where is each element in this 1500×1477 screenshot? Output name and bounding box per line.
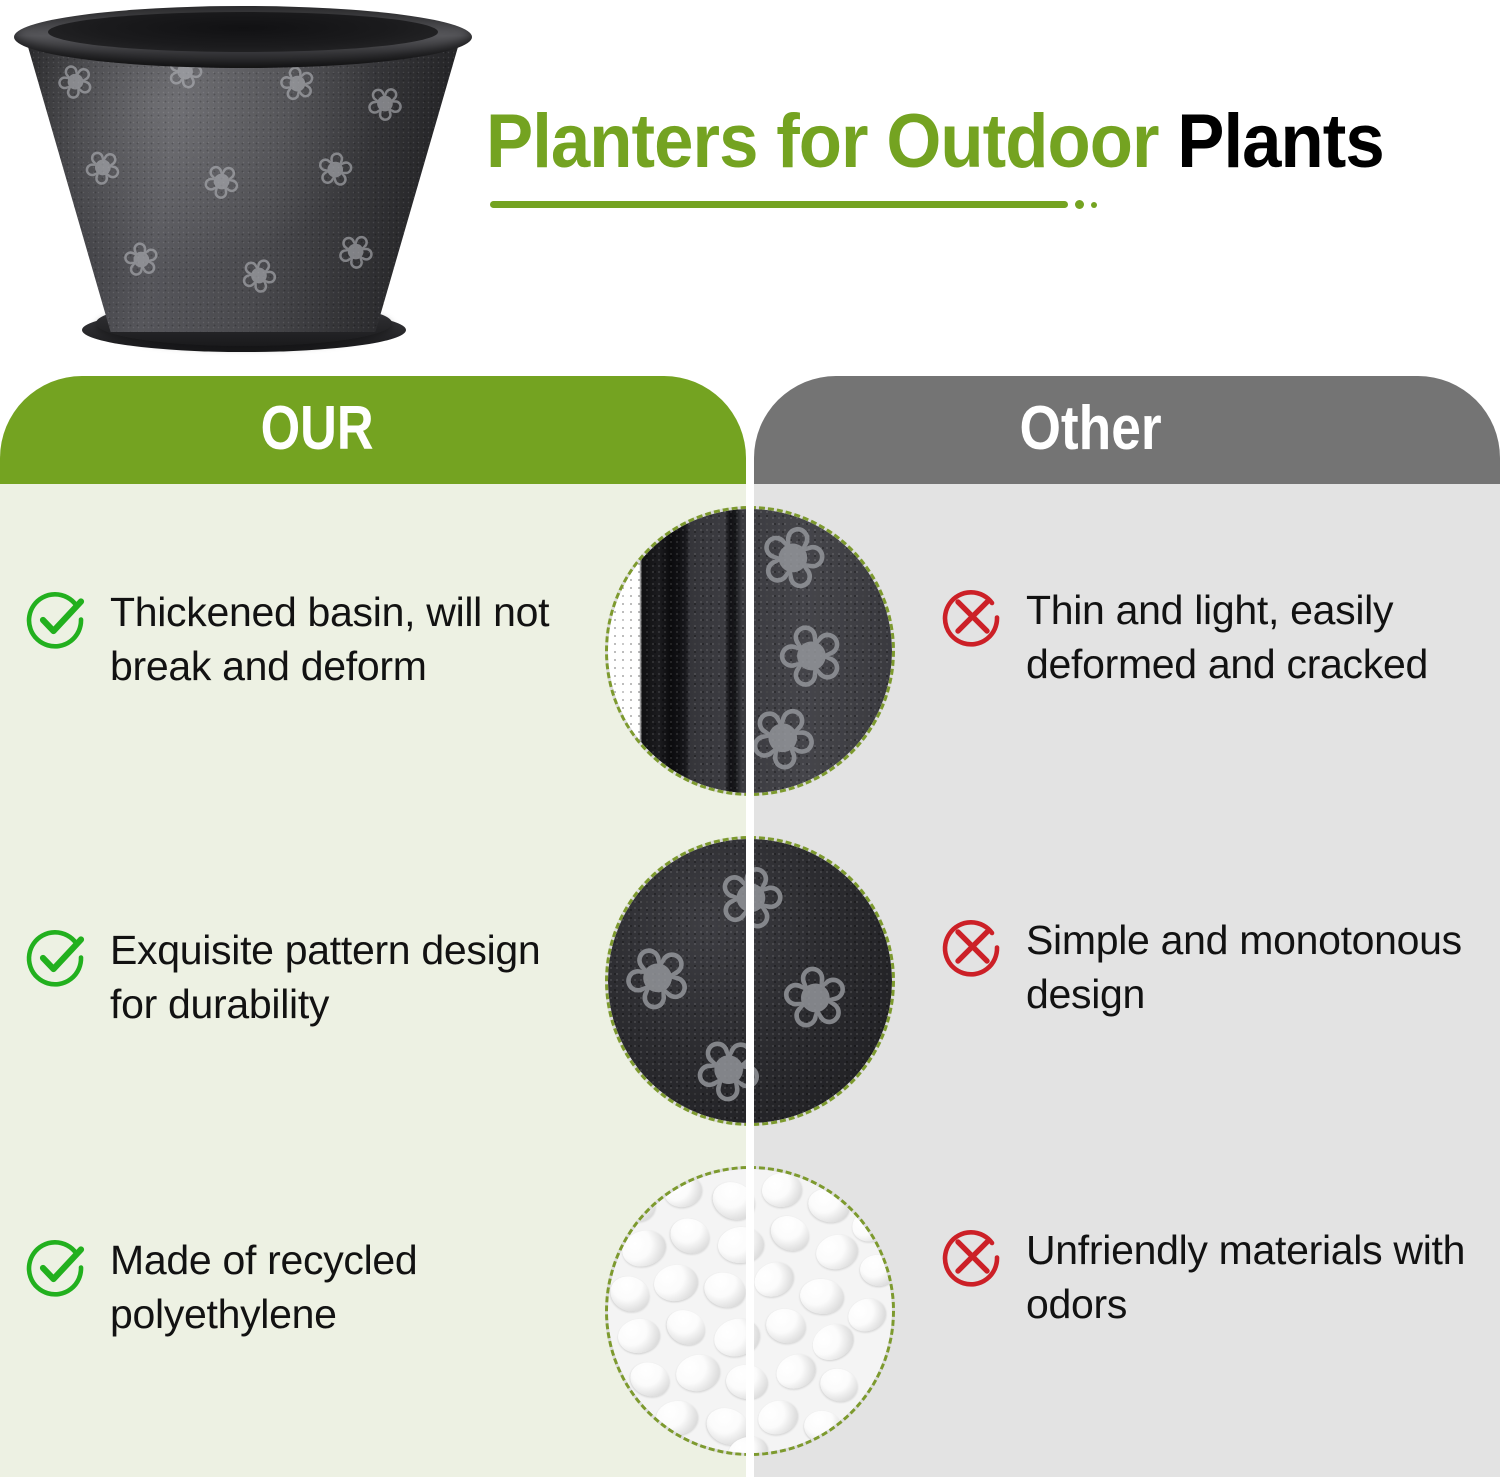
pot-rim-opening [48,12,438,52]
comparison-section: OUR Thickened basin, will not break and … [0,376,1500,1477]
page-title-green: Planters for Outdoor [486,99,1159,184]
title-underline [490,200,1097,209]
x-circle-icon [940,586,1004,650]
other-header-label: Other [1020,398,1162,460]
check-circle-icon [24,926,88,990]
title-underline-bar [490,201,1068,208]
our-feature-text: Made of recycled polyethylene [110,1234,584,1341]
other-header: Other [754,376,1500,486]
our-header-label: OUR [261,398,374,460]
pot-body: ❀ ❀ ❀ ❀ ❀ ❀ ❀ ❀ ❀ ❀ [26,40,460,332]
other-feature-item: Unfriendly materials with odors [940,1224,1485,1331]
x-circle-icon [940,916,1004,980]
column-divider [746,376,754,1477]
other-feature-text: Simple and monotonous design [1026,914,1485,1021]
our-feature-item: Exquisite pattern design for durability [24,924,584,1031]
other-feature-item: Simple and monotonous design [940,914,1485,1021]
title-underline-dot [1091,202,1097,208]
our-feature-item: Thickened basin, will not break and defo… [24,586,584,693]
check-circle-icon [24,1236,88,1300]
check-circle-icon [24,588,88,652]
leaf-motif-icon: ❀ [313,144,358,195]
other-feature-item: Thin and light, easily deformed and crac… [940,584,1485,691]
other-feature-text: Thin and light, easily deformed and crac… [1026,584,1485,691]
title-underline-dot [1075,200,1084,209]
leaf-motif-icon: ❀ [774,951,855,1044]
other-feature-text: Unfriendly materials with odors [1026,1224,1485,1331]
our-feature-item: Made of recycled polyethylene [24,1234,584,1341]
hero-section: ❀ ❀ ❀ ❀ ❀ ❀ ❀ ❀ ❀ ❀ Planters for Outdoor… [0,0,1500,376]
our-feature-text: Exquisite pattern design for durability [110,924,584,1031]
planter-pot-image: ❀ ❀ ❀ ❀ ❀ ❀ ❀ ❀ ❀ ❀ [8,4,478,366]
our-feature-text: Thickened basin, will not break and defo… [110,586,584,693]
page-title-black: Plants [1177,99,1384,184]
our-header: OUR [0,376,746,486]
x-circle-icon [940,1226,1004,1290]
leaf-motif-icon: ❀ [119,234,164,285]
page-title: Planters for Outdoor Plants [486,104,1486,180]
